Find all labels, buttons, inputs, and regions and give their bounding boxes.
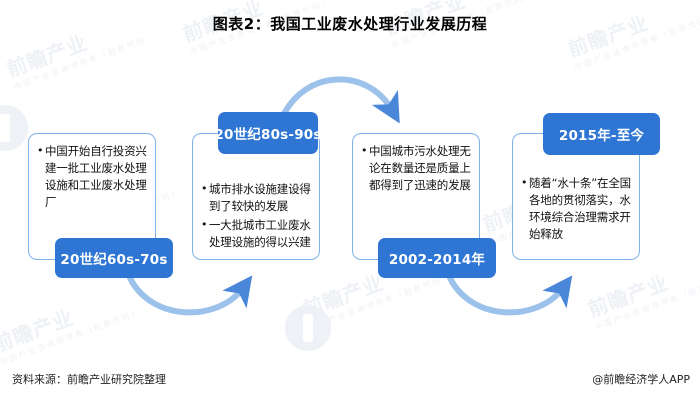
watermark-sub-text: 中国产业咨询领导者（股票代码） [0, 307, 143, 368]
arrow-stage3-to-stage4 [450, 278, 563, 312]
stage-1-bullet-0: 中国开始自行投资兴建一批工业废水处理设施和工业废水处理厂 [37, 143, 147, 211]
watermark-sub-text: 中国产业咨询领导者（股票代码） [309, 272, 453, 333]
stage-1-bullet-list: 中国开始自行投资兴建一批工业废水处理设施和工业废水处理厂 [37, 143, 147, 211]
brand-note: @前瞻经济学人APP [592, 371, 690, 387]
period-chip-3[interactable]: 2002-2014年 [378, 238, 496, 278]
watermark-text: 前瞻产业 中国产业咨询领导者（股票代码） [0, 284, 143, 368]
infographic-canvas: 前瞻产业 中国产业咨询领导者（股票代码） 前瞻产业 中国产业咨询领导者（股票代码… [0, 0, 700, 400]
stage-3-bullet-list: 中国城市污水处理无论在数量还是质量上都得到了迅速的发展 [361, 143, 471, 194]
stage-2-bullet-0: 城市排水设施建设得到了较快的发展 [201, 181, 311, 215]
watermark-text: 前瞻产业 中国产业咨询领导者（股票代码） [565, 0, 700, 73]
stage-3-bullet-0: 中国城市污水处理无论在数量还是质量上都得到了迅速的发展 [361, 143, 471, 194]
watermark-sub-text: 中国产业咨询领导者（股票代码） [594, 272, 700, 333]
page-title: 图表2：我国工业废水处理行业发展历程 [0, 13, 700, 34]
stage-4-bullet-0: 随着“水十条”在全国各地的贯彻落实，水环境综合治理需求开始释放 [521, 175, 631, 243]
watermark-text: 前瞻产业 中国产业咨询领导者（股票代码） [585, 249, 700, 333]
watermark-main-text: 前瞻产业 [0, 284, 140, 359]
stage-2-bullet-list: 城市排水设施建设得到了较快的发展 一大批城市工业废水处理设施的得以兴建 [201, 181, 311, 251]
stage-2-bullet-1: 一大批城市工业废水处理设施的得以兴建 [201, 217, 311, 251]
period-chip-1[interactable]: 20世纪60s-70s [55, 238, 173, 278]
arrow-stage1-to-stage2 [130, 278, 243, 312]
source-note: 资料来源：前瞻产业研究院整理 [12, 371, 166, 387]
stage-4-bullet-list: 随着“水十条”在全国各地的贯彻落实，水环境综合治理需求开始释放 [521, 175, 631, 243]
period-chip-4[interactable]: 2015年-至今 [543, 113, 660, 155]
watermark-sub-text: 中国产业咨询领导者（股票代码） [13, 32, 157, 93]
brand-logo-watermark-icon [0, 105, 28, 151]
period-chip-2[interactable]: 20世纪80s-90s [218, 112, 318, 154]
brand-logo-watermark-icon [285, 305, 331, 351]
